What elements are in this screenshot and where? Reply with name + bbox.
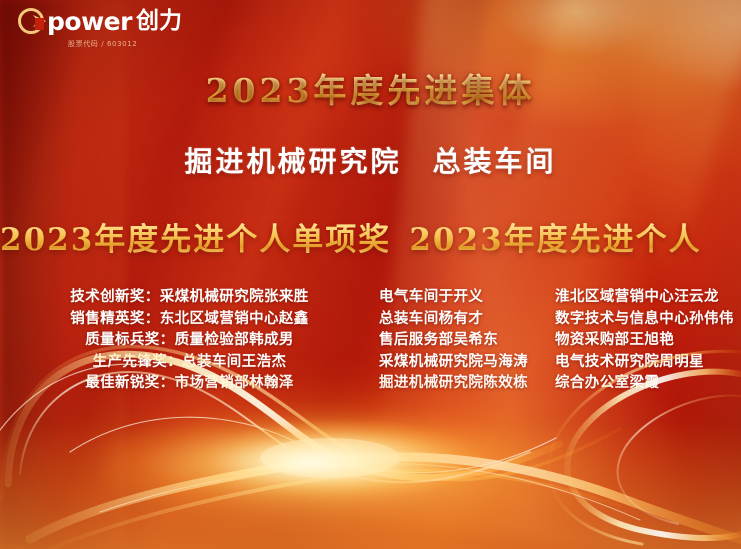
individual-name: 淮北区域营销中心汪云龙 (555, 286, 731, 308)
list-item: 质量标兵奖：质量检验部韩成男 (0, 329, 379, 351)
individual-name: 售后服务部吴希东 (379, 329, 555, 351)
award-label: 生产先锋奖： (93, 353, 182, 370)
section-title-single-awards: 2023年度先进个人单项奖 (0, 214, 388, 259)
single-award-list: 技术创新奖：采煤机械研究院张来胜 销售精英奖：东北区域营销中心赵鑫 质量标兵奖：… (0, 286, 379, 394)
list-item: 采煤机械研究院马海涛 电气技术研究院周明星 (379, 351, 731, 373)
individual-name: 数字技术与信息中心孙伟伟 (555, 308, 731, 330)
award-recipient: 采煤机械研究院张来胜 (160, 288, 309, 305)
list-item: 总装车间杨有才 数字技术与信息中心孙伟伟 (379, 308, 731, 330)
poster-subtitle: 掘进机械研究院 总装车间 (0, 140, 741, 180)
logo-row: power 创力 (18, 8, 218, 34)
individual-name: 综合办公室梁霞 (555, 372, 731, 394)
section-title-advanced-individuals: 2023年度先进个人 (388, 214, 741, 259)
list-item: 技术创新奖：采煤机械研究院张来胜 (0, 286, 379, 308)
individual-name: 电气技术研究院周明星 (555, 351, 731, 373)
c-power-ring-icon (18, 8, 44, 34)
award-label: 销售精英奖： (70, 310, 159, 327)
logo-chinese-name: 创力 (136, 10, 182, 33)
award-recipient: 市场营销部林翰泽 (175, 374, 294, 391)
list-item: 电气车间于开义 淮北区域营销中心汪云龙 (379, 286, 731, 308)
awards-lists: 技术创新奖：采煤机械研究院张来胜 销售精英奖：东北区域营销中心赵鑫 质量标兵奖：… (0, 286, 741, 394)
individual-name: 掘进机械研究院陈效栋 (379, 372, 555, 394)
individual-name: 电气车间于开义 (379, 286, 555, 308)
poster-title: 2023年度先进集体 (0, 64, 741, 112)
award-recipient: 总装车间王浩杰 (182, 353, 286, 370)
award-recipient: 质量检验部韩成男 (175, 331, 294, 348)
award-label: 技术创新奖： (70, 288, 159, 305)
list-item: 生产先锋奖：总装车间王浩杰 (0, 351, 379, 373)
individual-name: 采煤机械研究院马海涛 (379, 351, 555, 373)
list-item: 最佳新锐奖：市场营销部林翰泽 (0, 372, 379, 394)
logo-stock-code: 股票代码 / 603012 (68, 39, 218, 49)
poster-canvas: power 创力 股票代码 / 603012 2023年度先进集体 掘进机械研究… (0, 0, 741, 549)
logo-wordmark: power (47, 9, 132, 34)
individual-name: 总装车间杨有才 (379, 308, 555, 330)
award-recipient: 东北区域营销中心赵鑫 (160, 310, 309, 327)
award-label: 质量标兵奖： (85, 331, 174, 348)
award-label: 最佳新锐奖： (85, 374, 174, 391)
list-item: 售后服务部吴希东 物资采购部王旭艳 (379, 329, 731, 351)
list-item: 销售精英奖：东北区域营销中心赵鑫 (0, 308, 379, 330)
section-headers: 2023年度先进个人单项奖 2023年度先进个人 (0, 214, 741, 259)
brand-logo: power 创力 股票代码 / 603012 (18, 8, 218, 49)
advanced-individual-list: 电气车间于开义 淮北区域营销中心汪云龙 总装车间杨有才 数字技术与信息中心孙伟伟… (379, 286, 741, 394)
individual-name: 物资采购部王旭艳 (555, 329, 731, 351)
list-item: 掘进机械研究院陈效栋 综合办公室梁霞 (379, 372, 731, 394)
